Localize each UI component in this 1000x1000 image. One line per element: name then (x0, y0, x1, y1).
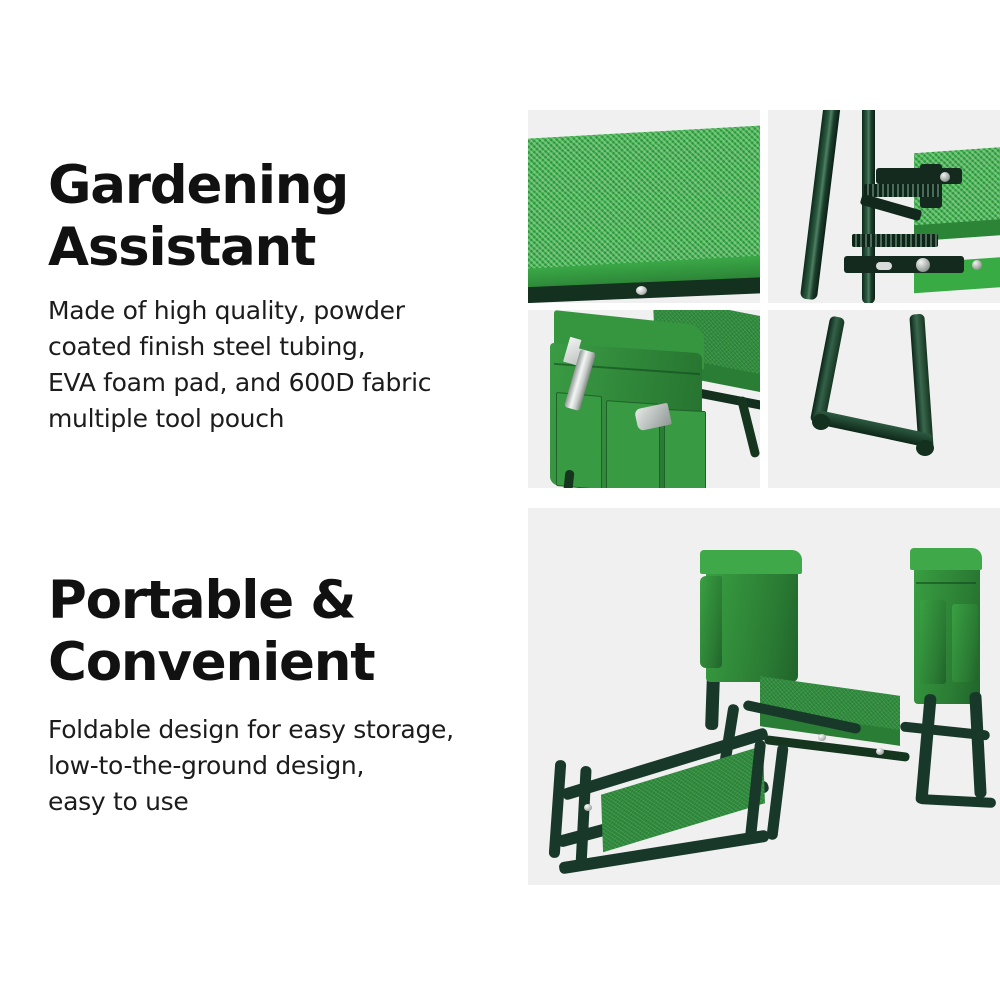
hero-backrest-side-pocket (700, 576, 722, 668)
bracket-screw-upper (940, 172, 950, 182)
pouch-support-leg (562, 470, 574, 488)
bracket-plate-lower (844, 256, 964, 273)
hero-right-pouch-seam (916, 582, 976, 584)
photo-folding-leg-frame (768, 310, 1000, 488)
hero-right-pouch-flap (910, 548, 982, 570)
photo-garden-kneeler-hero (528, 508, 1000, 885)
feature-block-gardening-assistant: Gardening Assistant Made of high quality… (48, 155, 508, 437)
hero-seat-rivet-1 (818, 734, 826, 741)
photo-folding-hinge-bracket (768, 110, 1000, 303)
pouch-artwork (528, 310, 760, 488)
leg-tube-left (810, 316, 845, 425)
hero-folded-right-rail-2 (766, 744, 789, 841)
hero-right-leg-back (969, 692, 987, 798)
hero-right-pocket-a (920, 600, 946, 684)
legs-artwork (768, 310, 1000, 488)
pad-artwork (528, 110, 760, 303)
body-portable-convenient: Foldable design for easy storage, low-to… (48, 712, 508, 820)
hero-folded-left-rail-2 (575, 766, 591, 870)
foam-pad-surface (528, 125, 760, 277)
bracket-teeth-upper (864, 184, 940, 197)
photo-tool-pouch-detail (528, 310, 760, 488)
hero-folded-rivet (584, 804, 592, 811)
steel-tube-leg (800, 110, 841, 300)
hero-artwork (528, 508, 1000, 885)
hero-backrest-flap (700, 550, 802, 574)
hero-right-pocket-b (952, 604, 978, 682)
product-feature-graphic: Gardening Assistant Made of high quality… (0, 0, 1000, 1000)
leg-joint-right (916, 440, 934, 456)
hero-right-leg-front (915, 694, 937, 805)
hero-seat-rivet-2 (876, 748, 884, 755)
body-gardening-assistant: Made of high quality, powder coated fini… (48, 293, 508, 437)
leg-joint-left (812, 414, 830, 430)
bracket-teeth-lower (852, 234, 938, 247)
hinge-artwork (768, 110, 1000, 303)
bracket-screw-right (972, 260, 982, 270)
bracket-slot (876, 262, 892, 270)
heading-gardening-assistant: Gardening Assistant (48, 155, 508, 279)
pad-rivet (636, 286, 647, 295)
heading-portable-convenient: Portable & Convenient (48, 570, 508, 694)
feature-block-portable-convenient: Portable & Convenient Foldable design fo… (48, 570, 508, 820)
bracket-pivot-knob (916, 258, 930, 272)
photo-eva-foam-pad-closeup (528, 110, 760, 303)
text-column: Gardening Assistant Made of high quality… (48, 0, 508, 1000)
